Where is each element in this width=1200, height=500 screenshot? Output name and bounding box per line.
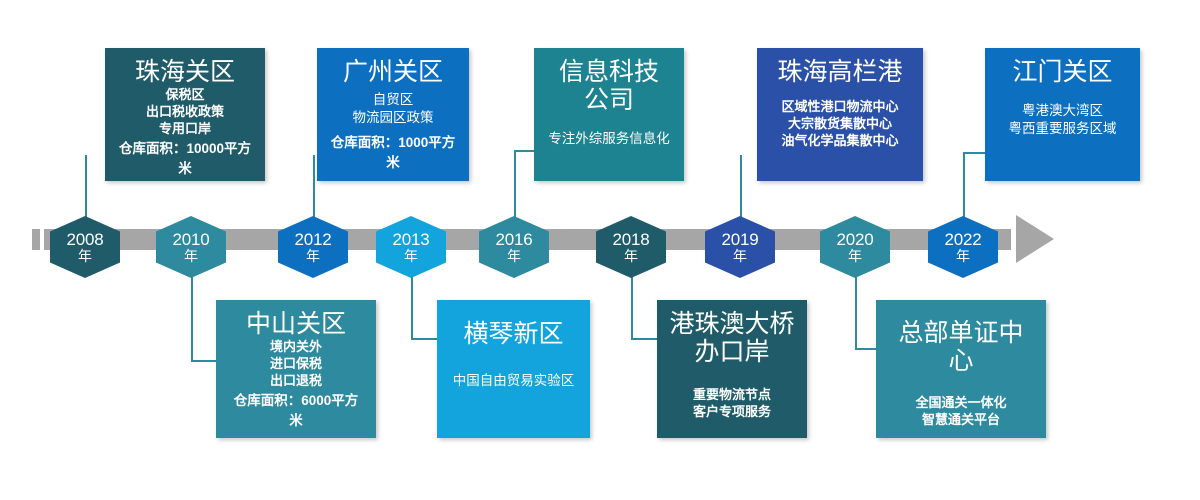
card-lines: 区域性港口物流中心 大宗散货集散中心 油气化学品集散中心 (781, 98, 898, 149)
node-year-suffix: 年 (404, 249, 418, 263)
node-year-suffix: 年 (507, 249, 521, 263)
node-year-2008: 2008 (66, 231, 103, 248)
connector-2008 (85, 155, 87, 220)
card-lines: 自贸区 物流园区政策 (353, 91, 434, 127)
node-year-suffix: 年 (956, 249, 970, 263)
card-jiangmen-customs[interactable]: 江门关区 粤港澳大湾区 粤西重要服务区域 (985, 48, 1140, 181)
timeline-arrow-icon (1016, 215, 1054, 263)
node-year-suffix: 年 (848, 249, 862, 263)
timeline-node-2010[interactable]: 2010 年 (156, 216, 226, 278)
connector-2019 (740, 155, 742, 220)
node-year-2013: 2013 (392, 231, 429, 248)
card-hq-documentation-center[interactable]: 总部单证中心 全国通关一体化 智慧通关平台 (876, 300, 1046, 438)
timeline-node-2018[interactable]: 2018 年 (596, 216, 666, 278)
connector-2018-horizontal (631, 338, 659, 340)
timeline-node-2019[interactable]: 2019 年 (705, 216, 775, 278)
node-year-2018: 2018 (612, 231, 649, 248)
timeline-node-2020[interactable]: 2020 年 (820, 216, 890, 278)
card-lines: 保税区 出口税收政策 专用口岸 (146, 86, 224, 137)
card-lines: 境内关外 进口保税 出口退税 (270, 338, 322, 389)
card-lines: 全国通关一体化 智慧通关平台 (915, 394, 1006, 428)
connector-2016-vertical (514, 150, 516, 220)
card-note: 仓库面积：6000平方米 (228, 389, 364, 429)
card-lines: 粤港澳大湾区 粤西重要服务区域 (1009, 102, 1117, 138)
node-year-suffix: 年 (733, 249, 747, 263)
node-year-2010: 2010 (172, 231, 209, 248)
node-year-2022: 2022 (944, 231, 981, 248)
card-info-tech-company[interactable]: 信息科技 公司 专注外综服务信息化 (534, 48, 684, 181)
node-year-suffix: 年 (184, 249, 198, 263)
timeline-node-2012[interactable]: 2012 年 (278, 216, 348, 278)
card-title: 珠海关区 (135, 58, 235, 86)
card-title: 总部单证中心 (888, 319, 1034, 375)
timeline-node-2013[interactable]: 2013 年 (376, 216, 446, 278)
card-guangzhou-customs[interactable]: 广州关区 自贸区 物流园区政策 仓库面积：1000平方米 (317, 48, 469, 181)
card-note: 仓库面积：1000平方米 (329, 131, 457, 171)
connector-2022-vertical (963, 152, 965, 220)
card-title: 港珠澳大桥 办口岸 (669, 310, 794, 366)
timeline-node-2016[interactable]: 2016 年 (479, 216, 549, 278)
card-hengqin-new-area[interactable]: 横琴新区 中国自由贸易实验区 (437, 300, 590, 438)
card-lines: 中国自由贸易实验区 (453, 372, 575, 390)
timeline-left-endcap-1 (32, 229, 40, 250)
card-title: 广州关区 (343, 58, 443, 86)
connector-2012 (313, 155, 315, 220)
node-year-suffix: 年 (624, 249, 638, 263)
card-title: 中山关区 (246, 310, 346, 338)
card-title: 横琴新区 (463, 320, 563, 348)
timeline-node-2022[interactable]: 2022 年 (928, 216, 998, 278)
card-zhuhai-gaolan-port[interactable]: 珠海高栏港 区域性港口物流中心 大宗散货集散中心 油气化学品集散中心 (757, 48, 923, 181)
timeline-right-endcap-2 (1005, 229, 1011, 250)
card-title: 江门关区 (1012, 58, 1112, 86)
node-year-suffix: 年 (306, 249, 320, 263)
timeline-infographic: 2008 年 2010 年 2012 年 2013 年 2016 年 2018 … (0, 0, 1200, 500)
node-year-2012: 2012 (294, 231, 331, 248)
node-year-2020: 2020 (836, 231, 873, 248)
connector-2013-horizontal (411, 338, 439, 340)
card-lines: 专注外综服务信息化 (548, 130, 670, 148)
card-zhuhai-customs[interactable]: 珠海关区 保税区 出口税收政策 专用口岸 仓库面积：10000平方米 (105, 48, 265, 181)
card-title: 珠海高栏港 (777, 58, 902, 86)
card-note: 仓库面积：10000平方米 (117, 137, 253, 177)
node-year-suffix: 年 (78, 249, 92, 263)
timeline-node-2008[interactable]: 2008 年 (50, 216, 120, 278)
node-year-2019: 2019 (721, 231, 758, 248)
card-title: 信息科技 公司 (559, 58, 659, 114)
card-zhongshan-customs[interactable]: 中山关区 境内关外 进口保税 出口退税 仓库面积：6000平方米 (216, 300, 376, 438)
node-year-2016: 2016 (495, 231, 532, 248)
connector-2010-horizontal (191, 360, 219, 362)
card-hzm-bridge-port[interactable]: 港珠澳大桥 办口岸 重要物流节点 客户专项服务 (657, 300, 807, 438)
card-lines: 重要物流节点 客户专项服务 (693, 386, 771, 420)
